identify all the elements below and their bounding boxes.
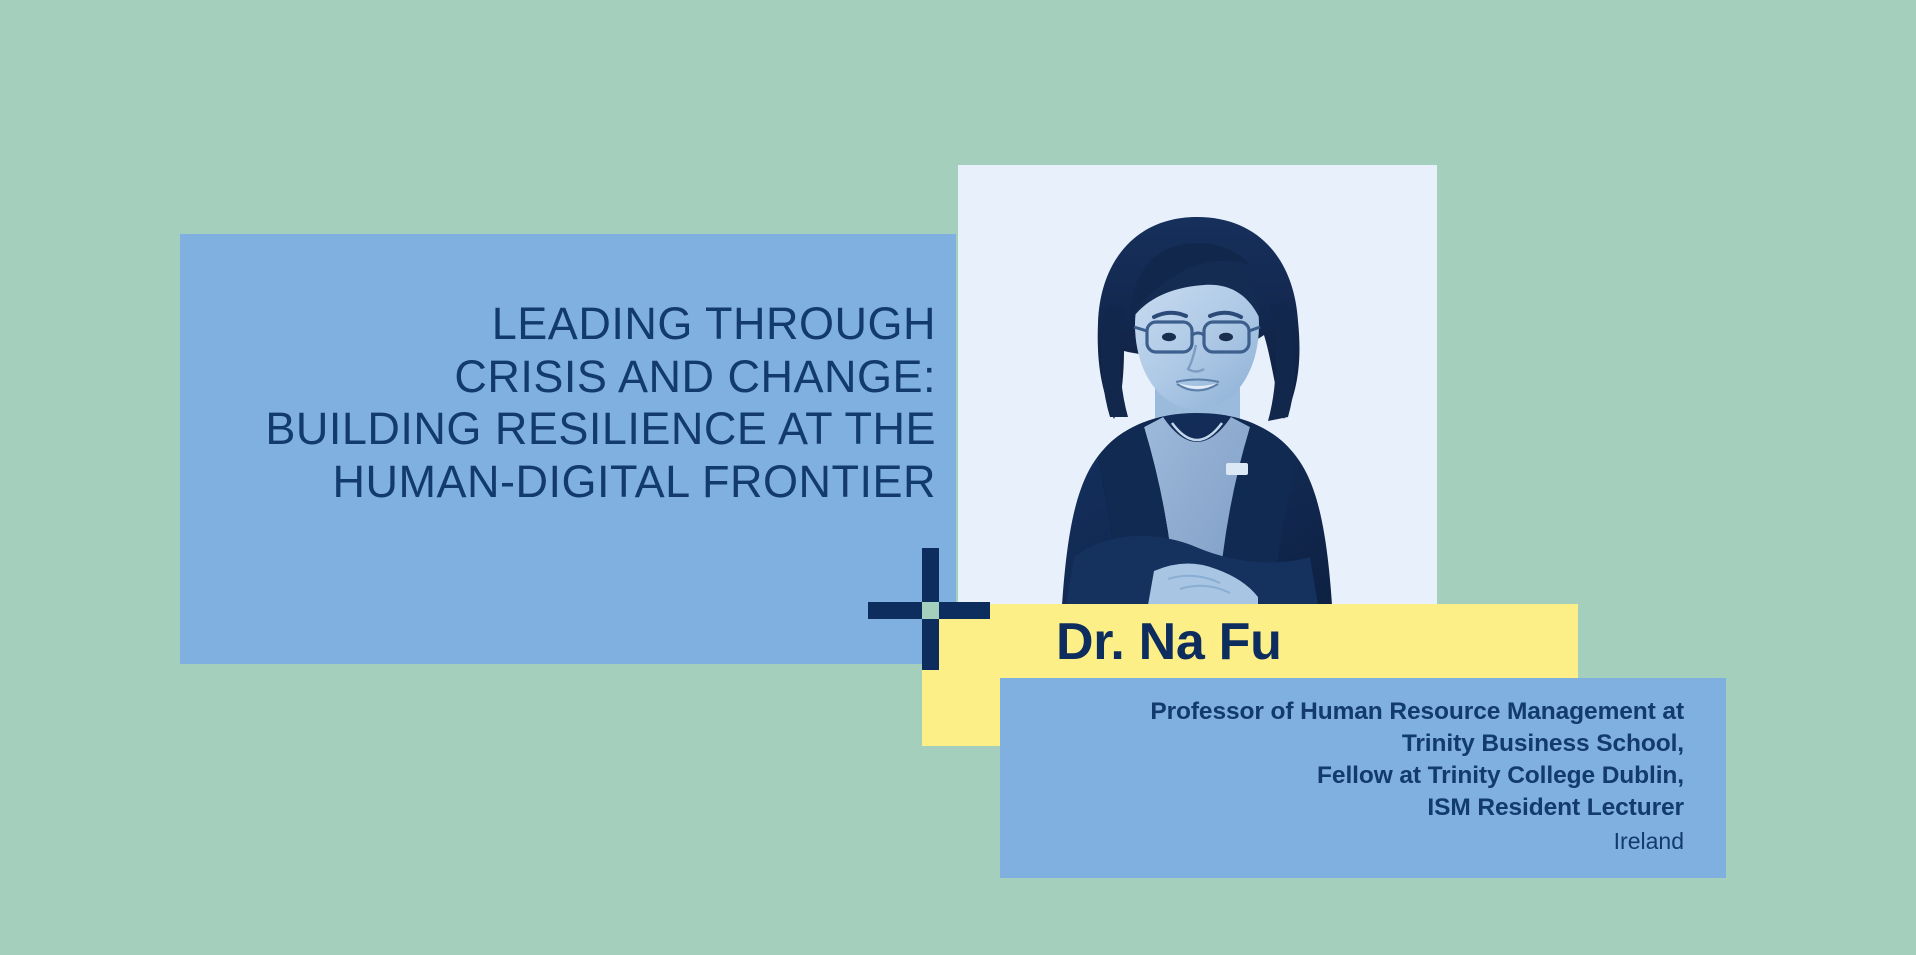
speaker-affiliation: Professor of Human Resource Management a…	[1030, 696, 1684, 823]
speaker-country: Ireland	[1030, 826, 1684, 857]
portrait-image	[958, 165, 1437, 605]
speaker-name: Dr. Na Fu	[1056, 612, 1282, 672]
slide-canvas: LEADING THROUGH CRISIS AND CHANGE: BUILD…	[0, 0, 1916, 955]
page-title: LEADING THROUGH CRISIS AND CHANGE: BUILD…	[200, 298, 936, 509]
title-panel: LEADING THROUGH CRISIS AND CHANGE: BUILD…	[180, 234, 956, 664]
plus-mark-icon	[868, 548, 990, 670]
speaker-bio-box: Professor of Human Resource Management a…	[1000, 678, 1726, 878]
speaker-portrait	[958, 165, 1437, 605]
plus-center-notch	[922, 602, 939, 619]
